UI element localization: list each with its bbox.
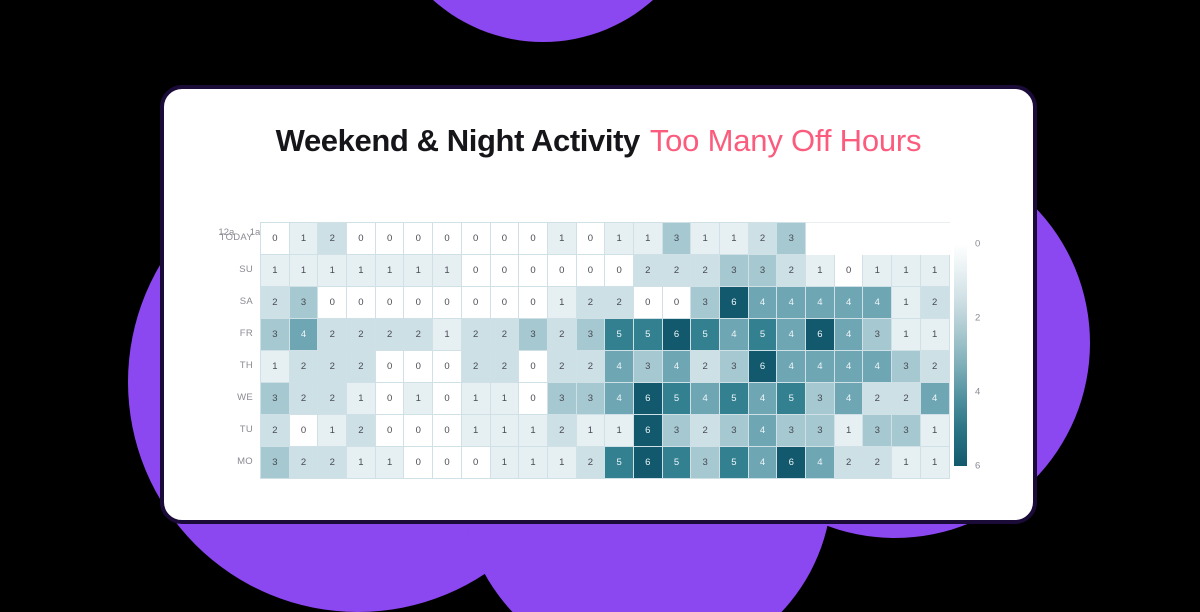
heatmap-cell[interactable]: 0 [289,415,318,447]
heatmap-row: 201200011121163234331331 [261,415,950,447]
heatmap-cell[interactable]: 1 [892,287,921,319]
heatmap-cell[interactable]: 2 [576,287,605,319]
y-axis-label-tu: TU [212,414,260,446]
heatmap-cell[interactable]: 4 [806,447,835,479]
heatmap-cell[interactable]: 1 [892,255,921,287]
heatmap-cell[interactable]: 2 [347,351,376,383]
colorbar-tick-4: 4 [975,387,980,398]
page-title: Weekend & Night ActivityToo Many Off Hou… [164,123,1033,159]
heatmap-cell[interactable]: 2 [662,255,691,287]
heatmap-cell[interactable]: 1 [547,223,576,255]
heatmap-cell[interactable]: 4 [748,415,777,447]
heatmap-cell[interactable]: 2 [605,287,634,319]
heatmap-cell[interactable]: 3 [720,351,749,383]
heatmap-cell[interactable]: 3 [863,415,892,447]
heatmap-cell[interactable]: 3 [261,383,290,415]
heatmap-cell[interactable]: 0 [261,223,290,255]
heatmap-cell[interactable]: 5 [720,447,749,479]
heatmap-cell[interactable]: 2 [863,383,892,415]
heatmap-cell[interactable]: 2 [261,287,290,319]
heatmap-cell[interactable]: 0 [490,223,519,255]
heatmap-cell[interactable]: 1 [834,415,863,447]
heatmap-cell[interactable]: 0 [375,383,404,415]
heatmap-cell[interactable]: 1 [461,415,490,447]
heatmap-cell[interactable]: 3 [691,287,720,319]
heatmap-cell[interactable]: 6 [633,447,662,479]
heatmap-cell[interactable]: 2 [920,287,949,319]
heatmap-cell[interactable]: 1 [576,415,605,447]
heatmap-cell[interactable]: 4 [748,383,777,415]
heatmap-cell[interactable]: 1 [318,255,347,287]
heatmap-plot: TODAYSUSAFRTHWETUMO 01200000001011311231… [212,222,950,479]
heatmap-cell[interactable]: 3 [777,415,806,447]
heatmap-cell[interactable]: 2 [863,447,892,479]
heatmap-cell[interactable]: 1 [261,351,290,383]
heatmap-cell[interactable]: 5 [605,319,634,351]
heatmap-cell[interactable]: 1 [519,415,548,447]
heatmap-cell[interactable]: 5 [633,319,662,351]
heatmap-row: 230000000012200364444412 [261,287,950,319]
heatmap-cell[interactable]: 2 [318,447,347,479]
heatmap-cell[interactable]: 4 [720,319,749,351]
heatmap-cell[interactable]: 1 [433,255,462,287]
heatmap-cell[interactable]: 6 [748,351,777,383]
colorbar-legend: 0246 [954,244,1001,466]
chart-card: Weekend & Night ActivityToo Many Off Hou… [160,85,1037,524]
heatmap-cell[interactable]: 3 [720,255,749,287]
heatmap-cell[interactable]: 0 [375,351,404,383]
y-axis-labels: TODAYSUSAFRTHWETUMO [212,222,260,478]
y-axis-label-fr: FR [212,318,260,350]
purple-circle-top [378,0,708,42]
heatmap-cell[interactable]: 2 [691,351,720,383]
y-axis-label-th: TH [212,350,260,382]
heatmap-cell[interactable]: 1 [261,255,290,287]
heatmap-cell[interactable]: 1 [347,383,376,415]
heatmap-cell[interactable]: 2 [490,319,519,351]
heatmap-cell[interactable]: 0 [433,351,462,383]
colorbar-tick-0: 0 [975,239,980,250]
colorbar-tick-labels: 0246 [975,244,1001,466]
heatmap-cell[interactable]: 1 [404,255,433,287]
heatmap-cell[interactable]: 4 [748,287,777,319]
heatmap-cell[interactable]: 0 [347,223,376,255]
heatmap-cell[interactable]: 1 [490,383,519,415]
heatmap-cell[interactable]: 1 [519,447,548,479]
heatmap-row: 342222122323556545464311 [261,319,950,351]
heatmap-cell[interactable]: 0 [404,223,433,255]
heatmap-cell[interactable]: 0 [375,415,404,447]
heatmap-cell[interactable]: 2 [547,319,576,351]
heatmap-cell[interactable]: 0 [404,415,433,447]
heatmap-cell[interactable]: 4 [777,351,806,383]
heatmap-cell[interactable]: 1 [920,255,949,287]
heatmap-cell[interactable]: 4 [605,383,634,415]
heatmap-cell[interactable]: 2 [461,319,490,351]
heatmap-cell[interactable]: 3 [892,415,921,447]
y-axis-label-su: SU [212,254,260,286]
heatmap-cell[interactable]: 2 [404,319,433,351]
heatmap-cell[interactable]: 2 [834,447,863,479]
heatmap-cell[interactable]: 2 [461,351,490,383]
y-axis-label-today: TODAY [212,222,260,254]
heatmap-cell[interactable]: 0 [490,287,519,319]
heatmap-cell[interactable]: 3 [261,319,290,351]
heatmap-cell[interactable]: 6 [633,383,662,415]
heatmap-cell[interactable]: 4 [863,287,892,319]
heatmap-cell[interactable]: 0 [461,287,490,319]
heatmap-cell[interactable]: 2 [318,383,347,415]
heatmap-cell[interactable]: 1 [375,447,404,479]
heatmap-cell[interactable]: 3 [892,351,921,383]
heatmap-cell[interactable]: 0 [834,255,863,287]
heatmap-cell[interactable]: 3 [806,383,835,415]
heatmap-cell[interactable]: 3 [261,447,290,479]
heatmap-cell[interactable]: 1 [863,255,892,287]
heatmap-cell[interactable]: 1 [892,319,921,351]
heatmap-cell[interactable]: 0 [433,415,462,447]
heatmap-cell-empty [920,223,949,255]
heatmap-cell[interactable]: 6 [806,319,835,351]
heatmap-cell[interactable]: 1 [806,255,835,287]
heatmap-cell[interactable]: 4 [834,351,863,383]
heatmap-cell[interactable]: 0 [576,223,605,255]
heatmap-cell[interactable]: 1 [289,223,318,255]
heatmap-cell[interactable]: 1 [433,319,462,351]
heatmap-cell[interactable]: 2 [576,351,605,383]
heatmap-cell[interactable]: 2 [375,319,404,351]
heatmap-cell[interactable]: 2 [777,255,806,287]
heatmap-cell[interactable]: 0 [519,287,548,319]
heatmap-row: 111111100000022233210111 [261,255,950,287]
heatmap-cell[interactable]: 5 [662,383,691,415]
heatmap-grid: 0120000000101131123111111100000022233210… [260,222,950,479]
heatmap-cell[interactable]: 1 [289,255,318,287]
heatmap-cell[interactable]: 2 [633,255,662,287]
heatmap-cell[interactable]: 4 [748,447,777,479]
heatmap-cell[interactable]: 1 [547,447,576,479]
heatmap-cell[interactable]: 4 [777,319,806,351]
heatmap-cell[interactable]: 4 [662,351,691,383]
heatmap-cell[interactable]: 1 [605,415,634,447]
heatmap-cell[interactable]: 3 [576,383,605,415]
heatmap-cell[interactable]: 6 [777,447,806,479]
heatmap-cell[interactable]: 0 [605,255,634,287]
heatmap-cell[interactable]: 4 [834,383,863,415]
heatmap-cell[interactable]: 0 [433,447,462,479]
heatmap-cell[interactable]: 2 [691,415,720,447]
heatmap-cell[interactable]: 1 [547,287,576,319]
heatmap-cell[interactable]: 4 [605,351,634,383]
heatmap-cell[interactable]: 3 [289,287,318,319]
heatmap-cell[interactable]: 1 [318,415,347,447]
heatmap-cell[interactable]: 2 [318,223,347,255]
heatmap-cell[interactable]: 5 [605,447,634,479]
heatmap-cell[interactable]: 0 [461,223,490,255]
heatmap-cell[interactable]: 4 [834,319,863,351]
heatmap-cell[interactable]: 3 [748,255,777,287]
heatmap-cell[interactable]: 2 [318,351,347,383]
heatmap-cell[interactable]: 3 [519,319,548,351]
heatmap-cell[interactable]: 0 [404,351,433,383]
heatmap-cell[interactable]: 3 [720,415,749,447]
heatmap-cell[interactable]: 2 [347,415,376,447]
heatmap-cell[interactable]: 4 [289,319,318,351]
heatmap-cell[interactable]: 0 [576,255,605,287]
heatmap-cell[interactable]: 3 [633,351,662,383]
heatmap-cell[interactable]: 2 [892,383,921,415]
heatmap-cell[interactable]: 3 [691,447,720,479]
heatmap-cell-empty [892,223,921,255]
heatmap-cell[interactable]: 0 [490,255,519,287]
heatmap-row: 322110001112565354642211 [261,447,950,479]
heatmap-cell[interactable]: 1 [633,223,662,255]
heatmap-cell[interactable]: 2 [289,447,318,479]
title-main: Weekend & Night Activity [276,123,640,158]
heatmap-chart: TODAYSUSAFRTHWETUMO 01200000001011311231… [164,222,1033,512]
heatmap-cell[interactable]: 2 [547,415,576,447]
heatmap-cell[interactable]: 2 [289,383,318,415]
heatmap-cell[interactable]: 3 [547,383,576,415]
heatmap-cell[interactable]: 4 [691,383,720,415]
heatmap-cell-empty [834,223,863,255]
heatmap-cell[interactable]: 4 [806,287,835,319]
colorbar-tick-6: 6 [975,461,980,472]
heatmap-cell[interactable]: 2 [289,351,318,383]
heatmap-cell[interactable]: 0 [633,287,662,319]
heatmap-cell[interactable]: 5 [720,383,749,415]
heatmap-cell[interactable]: 3 [863,319,892,351]
heatmap-cell[interactable]: 5 [777,383,806,415]
heatmap-cell[interactable]: 2 [547,351,576,383]
heatmap-body: 0120000000101131123111111100000022233210… [261,223,950,479]
y-axis-label-we: WE [212,382,260,414]
heatmap-cell[interactable]: 1 [920,415,949,447]
heatmap-row: 122200022022434236444432 [261,351,950,383]
heatmap-cell[interactable]: 4 [920,383,949,415]
heatmap-cell[interactable]: 1 [347,255,376,287]
heatmap-cell[interactable]: 3 [576,319,605,351]
heatmap-cell[interactable]: 4 [806,351,835,383]
y-axis-label-mo: MO [212,446,260,478]
heatmap-cell[interactable]: 2 [748,223,777,255]
heatmap-cell[interactable]: 2 [261,415,290,447]
heatmap-cell[interactable]: 4 [863,351,892,383]
heatmap-cell[interactable]: 6 [720,287,749,319]
heatmap-cell[interactable]: 6 [662,319,691,351]
heatmap-cell[interactable]: 4 [777,287,806,319]
heatmap-cell[interactable]: 1 [605,223,634,255]
heatmap-cell[interactable]: 2 [691,255,720,287]
heatmap-cell[interactable]: 0 [375,223,404,255]
heatmap-row: 0120000000101131123 [261,223,950,255]
heatmap-cell[interactable]: 5 [691,319,720,351]
y-axis-label-sa: SA [212,286,260,318]
heatmap-cell[interactable]: 0 [347,287,376,319]
heatmap-cell[interactable]: 1 [892,447,921,479]
heatmap-cell[interactable]: 1 [720,223,749,255]
heatmap-cell[interactable]: 5 [748,319,777,351]
heatmap-cell[interactable]: 1 [691,223,720,255]
heatmap-cell[interactable]: 2 [347,319,376,351]
heatmap-cell[interactable]: 0 [461,447,490,479]
heatmap-cell[interactable]: 1 [490,415,519,447]
title-subtitle: Too Many Off Hours [650,123,922,158]
heatmap-cell[interactable]: 0 [519,351,548,383]
heatmap-cell[interactable]: 3 [777,223,806,255]
heatmap-cell[interactable]: 0 [519,255,548,287]
heatmap-cell[interactable]: 0 [662,287,691,319]
heatmap-cell[interactable]: 0 [404,287,433,319]
heatmap-cell[interactable]: 0 [461,255,490,287]
colorbar-gradient [954,244,967,466]
heatmap-cell[interactable]: 3 [662,415,691,447]
heatmap-cell[interactable]: 0 [519,223,548,255]
heatmap-cell[interactable]: 6 [633,415,662,447]
heatmap-cell[interactable]: 1 [461,383,490,415]
heatmap-cell-empty [806,223,835,255]
heatmap-cell[interactable]: 0 [433,287,462,319]
heatmap-cell[interactable]: 0 [318,287,347,319]
heatmap-cell[interactable]: 0 [404,447,433,479]
heatmap-cell[interactable]: 1 [347,447,376,479]
heatmap-cell[interactable]: 2 [576,447,605,479]
heatmap-cell[interactable]: 1 [404,383,433,415]
heatmap-cell[interactable]: 5 [662,447,691,479]
heatmap-cell[interactable]: 1 [920,447,949,479]
heatmap-row: 322101011033465454534224 [261,383,950,415]
heatmap-cell[interactable]: 0 [547,255,576,287]
heatmap-cell[interactable]: 2 [318,319,347,351]
heatmap-cell[interactable]: 1 [920,319,949,351]
heatmap-cell[interactable]: 0 [433,383,462,415]
heatmap-cell[interactable]: 0 [433,223,462,255]
heatmap-cell[interactable]: 2 [490,351,519,383]
heatmap-cell[interactable]: 3 [806,415,835,447]
colorbar-tick-2: 2 [975,313,980,324]
heatmap-cell[interactable]: 0 [519,383,548,415]
heatmap-cell-empty [863,223,892,255]
heatmap-cell[interactable]: 2 [920,351,949,383]
heatmap-cell[interactable]: 1 [375,255,404,287]
heatmap-cell[interactable]: 1 [490,447,519,479]
heatmap-cell[interactable]: 0 [375,287,404,319]
heatmap-cell[interactable]: 4 [834,287,863,319]
heatmap-cell[interactable]: 3 [662,223,691,255]
